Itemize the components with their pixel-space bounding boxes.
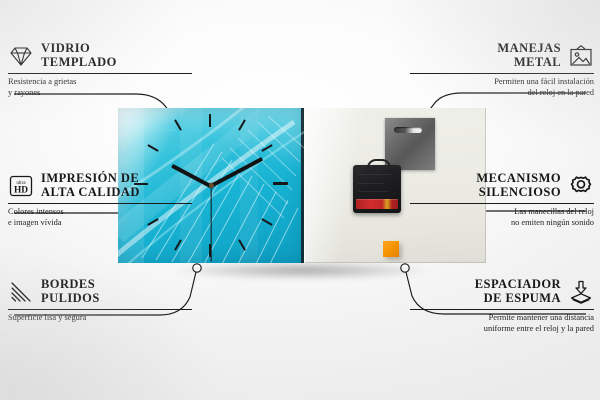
battery-compartment — [356, 199, 398, 209]
feature-description: Superficie lisa y segura — [8, 313, 192, 323]
mechanism-detail — [358, 191, 388, 192]
feature-description: Resistencia a grietas y rayones — [8, 77, 192, 98]
ultra-hd-icon: ultra HD — [8, 174, 34, 198]
minute-hand — [210, 157, 263, 188]
second-hand — [210, 186, 211, 262]
tick-mark — [147, 144, 158, 152]
wall-mount-slot — [394, 127, 422, 133]
feature-espaciador-espuma: ESPACIADOR DE ESPUMA Permite mantener un… — [410, 278, 594, 334]
feature-heading: MANEJAS METAL — [410, 42, 594, 69]
wall-mount-plate — [385, 118, 435, 170]
feature-heading: MECANISMO SILENCIOSO — [410, 172, 594, 199]
feature-manejas-metal: MANEJAS METAL Permiten una fácil instala… — [410, 42, 594, 98]
foam-spacer-icon — [568, 280, 594, 304]
feature-heading: VIDRIO TEMPLADO — [8, 42, 192, 69]
hands-hub — [209, 183, 214, 188]
tick-mark — [261, 144, 272, 152]
feature-title: BORDES PULIDOS — [41, 278, 100, 305]
foam-spacer — [383, 241, 399, 257]
divider — [410, 309, 594, 310]
clock-mechanism — [353, 165, 401, 213]
svg-text:HD: HD — [14, 185, 28, 195]
feature-title: MECANISMO SILENCIOSO — [476, 172, 561, 199]
mechanism-detail — [358, 174, 392, 175]
divider — [410, 203, 594, 204]
divider — [8, 203, 192, 204]
tick-mark — [209, 114, 211, 127]
polished-edges-icon — [8, 280, 34, 304]
mechanism-detail — [358, 183, 384, 184]
feature-title: MANEJAS METAL — [497, 42, 561, 69]
feature-description: Colores intensos e imagen vívida — [8, 207, 192, 228]
feature-heading: BORDES PULIDOS — [8, 278, 192, 305]
divider — [8, 309, 192, 310]
feature-heading: ESPACIADOR DE ESPUMA — [410, 278, 594, 305]
divider — [410, 73, 594, 74]
tick-mark — [174, 239, 182, 250]
feature-description: Permiten una fácil instalación del reloj… — [410, 77, 594, 98]
feature-heading: ultra HD IMPRESIÓN DE ALTA CALIDAD — [8, 172, 192, 199]
tick-mark — [261, 218, 272, 226]
divider — [8, 73, 192, 74]
feature-bordes-pulidos: BORDES PULIDOS Superficie lisa y segura — [8, 278, 192, 324]
tick-mark — [273, 182, 288, 185]
feature-vidrio-templado: VIDRIO TEMPLADO Resistencia a grietas y … — [8, 42, 192, 98]
feature-title: IMPRESIÓN DE ALTA CALIDAD — [41, 172, 140, 199]
diamond-icon — [8, 44, 34, 68]
feature-title: ESPACIADOR DE ESPUMA — [475, 278, 561, 305]
tick-mark — [238, 239, 246, 250]
feature-mecanismo-silencioso: MECANISMO SILENCIOSO Las manecillas del … — [410, 172, 594, 228]
feature-impresion-alta-calidad: ultra HD IMPRESIÓN DE ALTA CALIDAD Color… — [8, 172, 192, 228]
tick-mark — [238, 119, 246, 130]
wall-mount-icon — [568, 44, 594, 68]
gear-icon — [568, 174, 594, 198]
feature-description: Las manecillas del reloj no emiten ningú… — [410, 207, 594, 228]
infographic-canvas: VIDRIO TEMPLADO Resistencia a grietas y … — [0, 0, 600, 400]
mechanism-loop — [367, 159, 391, 171]
tick-mark — [174, 119, 182, 130]
feature-description: Permite mantener una distancia uniforme … — [410, 313, 594, 334]
feature-title: VIDRIO TEMPLADO — [41, 42, 117, 69]
